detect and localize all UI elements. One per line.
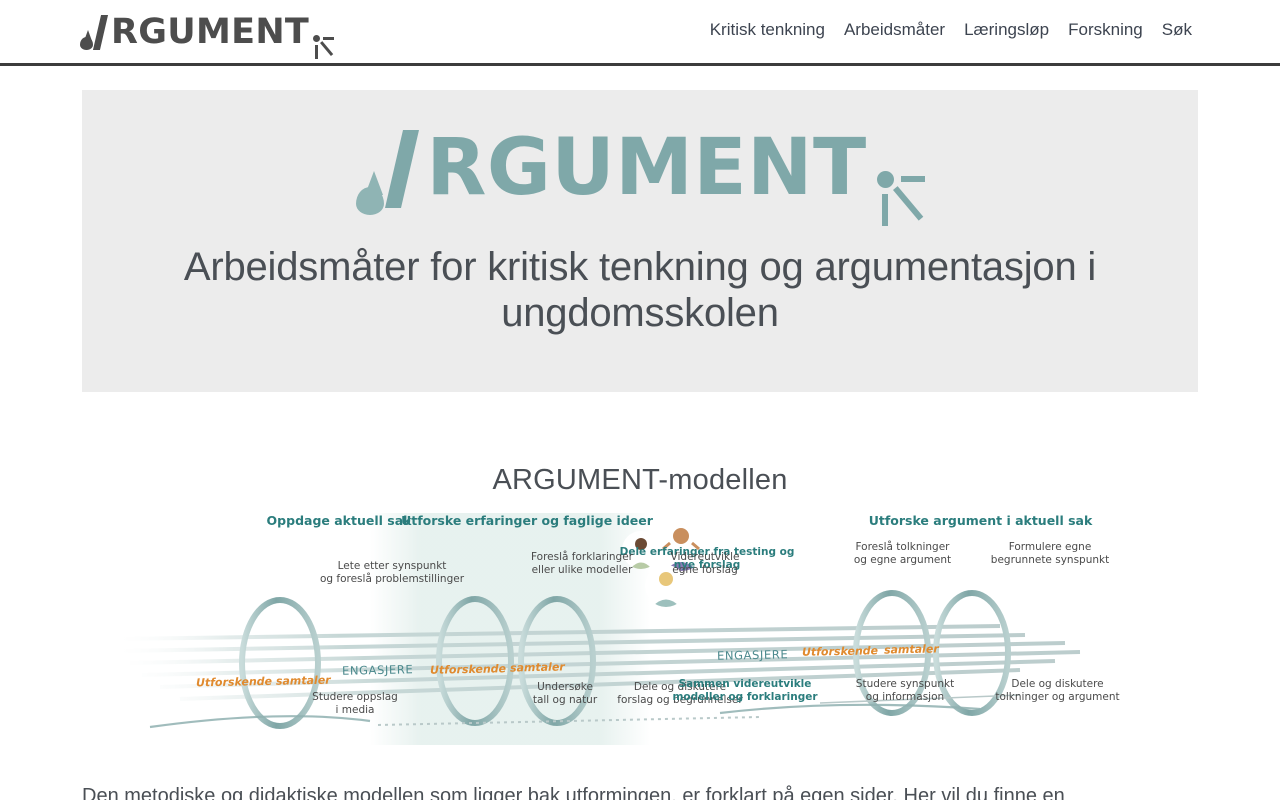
- engage-label-2: ENGASJERE: [717, 647, 789, 662]
- ring-label-5: samtaler: [884, 642, 939, 656]
- top-caption-3: Videreutvikle egne forslag: [650, 551, 760, 577]
- model-section-title: ARGUMENT-modellen: [0, 464, 1280, 497]
- main-navigation: Kritisk tenkning Arbeidsmåter Læringsløp…: [710, 20, 1192, 40]
- bottom-caption-5: Studere synspunkt og informasjon: [830, 678, 980, 704]
- engage-label-1: ENGASJERE: [342, 662, 414, 677]
- nav-item-arbeidsmater[interactable]: Arbeidsmåter: [844, 20, 945, 40]
- top-caption-5: Formulere egne begrunnete synspunkt: [970, 541, 1130, 567]
- nav-item-kritisk-tenkning[interactable]: Kritisk tenkning: [710, 20, 825, 40]
- nav-item-forskning[interactable]: Forskning: [1068, 20, 1143, 40]
- ring-label-4: Utforskende: [802, 644, 878, 659]
- logo-slash-icon: [94, 14, 109, 50]
- site-logo[interactable]: RGUMENT: [80, 14, 336, 62]
- top-caption-1: Lete etter synspunkt og foreslå problems…: [302, 560, 482, 586]
- argument-model-diagram: Oppdage aktuell sak Utforske erfaringer …: [120, 513, 1160, 763]
- ring-label-3: samtaler: [510, 660, 565, 674]
- ring-label-2: Utforskende: [430, 662, 506, 677]
- hero-logo-wordmark: RGUMENT: [426, 128, 866, 208]
- hero-logo: RGUMENT: [356, 128, 923, 230]
- hero-banner: RGUMENT Arbeidsmåter for kritisk tenknin…: [82, 90, 1198, 392]
- logo-node-icon: [312, 32, 336, 62]
- nav-item-sok[interactable]: Søk: [1162, 20, 1192, 40]
- hero-logo-slash-icon: [388, 128, 422, 210]
- bottom-caption-1: Studere oppslag i media: [275, 691, 435, 717]
- logo-drop-icon: [80, 26, 93, 50]
- hero-logo-node-icon: [874, 166, 924, 230]
- hero-logo-drop-icon: [356, 157, 386, 215]
- hero-title: Arbeidsmåter for kritisk tenkning og arg…: [110, 244, 1170, 337]
- intro-paragraph: Den metodiske og didaktiske modellen som…: [82, 781, 1198, 800]
- phase-heading-2: Utforske erfaringer og faglige ideer: [382, 513, 672, 528]
- top-caption-4: Foreslå tolkninger og egne argument: [830, 541, 975, 567]
- phase-heading-4: Utforske argument i aktuell sak: [843, 513, 1118, 528]
- logo-wordmark: RGUMENT: [111, 14, 309, 50]
- nav-item-laringslop[interactable]: Læringsløp: [964, 20, 1049, 40]
- top-caption-2: Foreslå forklaringer eller ulike modelle…: [512, 551, 652, 577]
- site-header: RGUMENT Kritisk tenkning Arbeidsmåter Læ…: [0, 0, 1280, 66]
- bottom-caption-6: Dele og diskutere tolkninger og argument: [965, 678, 1150, 704]
- bottom-caption-4: Sammen videreutvikle modeller og forklar…: [630, 678, 860, 704]
